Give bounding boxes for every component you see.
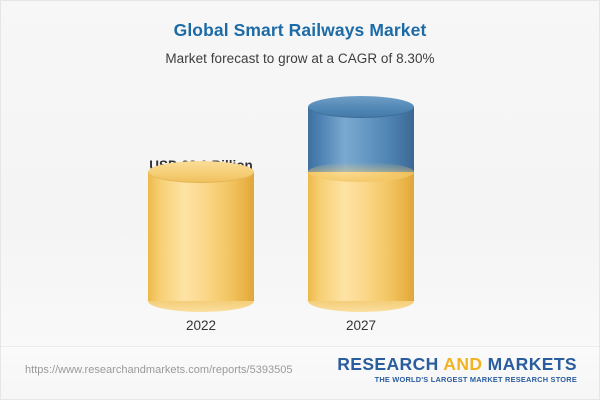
bar-cylinder-2022[interactable]	[148, 172, 254, 301]
axis-label-2022: 2022	[121, 318, 281, 333]
axis-label-2027: 2027	[281, 318, 441, 333]
brand-word-markets: MARKETS	[488, 354, 577, 374]
chart-subtitle: Market forecast to grow at a CAGR of 8.3…	[1, 51, 599, 66]
bar-top-cap-2027	[308, 96, 414, 118]
brand-name: RESEARCH AND MARKETS	[337, 355, 577, 373]
bar-body-base-2027	[308, 172, 414, 301]
chart-plot-area: USD 28.9 Billion 2022 USD 43 Billion	[1, 79, 599, 341]
bar-cylinder-2027[interactable]	[308, 107, 414, 301]
brand-word-research: RESEARCH	[337, 354, 443, 374]
bar-segment-base-2027	[308, 172, 414, 301]
brand-tagline: THE WORLD'S LARGEST MARKET RESEARCH STOR…	[337, 375, 577, 384]
brand-logo: RESEARCH AND MARKETS THE WORLD'S LARGEST…	[337, 355, 577, 384]
bar-body-2022	[148, 172, 254, 301]
brand-word-and: AND	[443, 354, 487, 374]
page-title: Global Smart Railways Market	[1, 20, 599, 41]
bar-segment-base-2022	[148, 172, 254, 301]
footer: https://www.researchandmarkets.com/repor…	[1, 346, 599, 399]
bar-top-cap-2022	[148, 161, 254, 183]
report-url[interactable]: https://www.researchandmarkets.com/repor…	[25, 364, 293, 376]
bar-segment-junction-2027	[308, 162, 414, 182]
infographic-card: Global Smart Railways Market Market fore…	[0, 0, 600, 400]
